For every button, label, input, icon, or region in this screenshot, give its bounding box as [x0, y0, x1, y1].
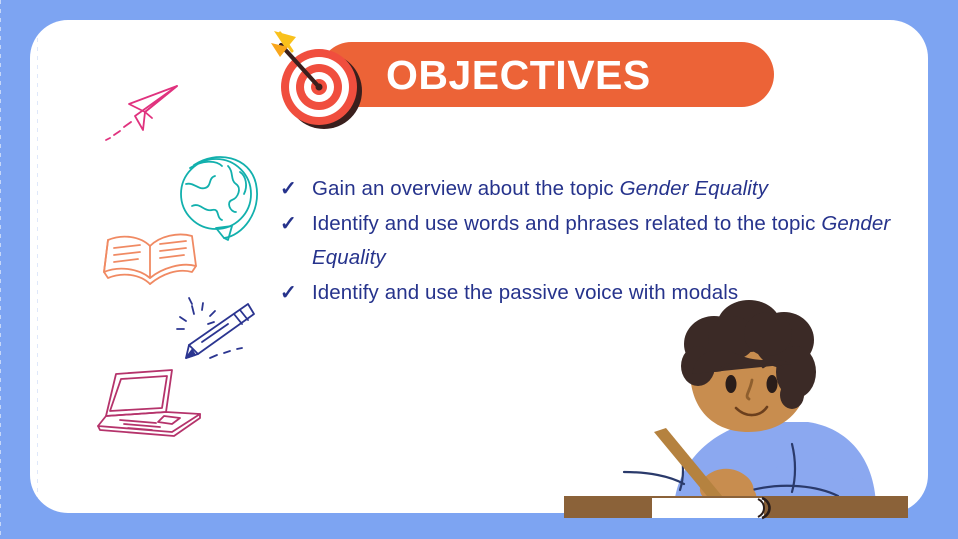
paper-plane-icon: [105, 82, 183, 142]
check-icon: ✓: [280, 172, 312, 206]
list-item: ✓ Gain an overview about the topic Gende…: [280, 172, 900, 206]
objective-text-2: Identify and use words and phrases relat…: [312, 207, 900, 275]
open-book-icon: [100, 228, 200, 296]
target-dartboard-icon: [268, 23, 373, 133]
objectives-list: ✓ Gain an overview about the topic Gende…: [280, 172, 900, 311]
pencil-icon: [172, 292, 260, 367]
page-title: OBJECTIVES: [386, 46, 651, 104]
objective-text-1-plain: Gain an overview about the topic: [312, 177, 620, 200]
check-icon: ✓: [280, 276, 312, 310]
objective-text-1: Gain an overview about the topic Gender …: [312, 172, 768, 206]
boy-writing-illustration: [556, 300, 956, 539]
list-item: ✓ Identify and use words and phrases rel…: [280, 207, 900, 275]
laptop-icon: [96, 362, 206, 442]
objective-text-2-plain: Identify and use words and phrases relat…: [312, 212, 821, 235]
check-icon: ✓: [280, 207, 312, 241]
objective-text-1-emphasis: Gender Equality: [620, 177, 769, 200]
slide-root: OBJECTIVES ✓ Gain an overview about the …: [0, 0, 958, 539]
